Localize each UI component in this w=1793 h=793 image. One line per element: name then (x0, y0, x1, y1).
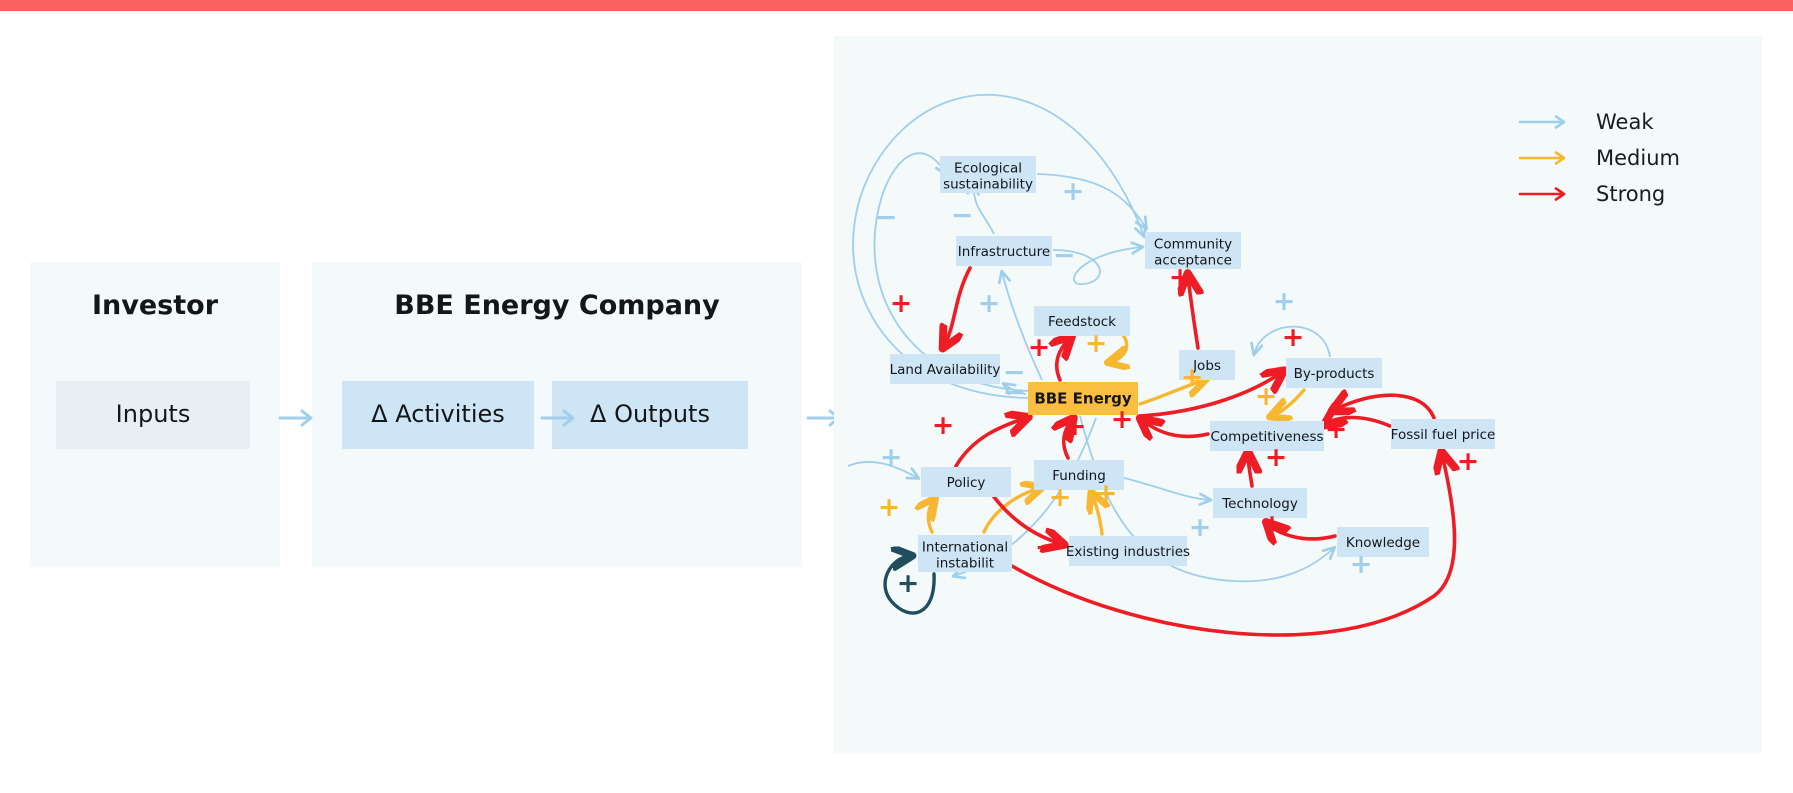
node-label: Fossil fuel price (1391, 427, 1496, 443)
polarity-sign: + (932, 410, 955, 441)
legend-arrow-strong-icon (1518, 185, 1574, 203)
polarity-sign: − (1003, 377, 1026, 408)
legend-item-medium: Medium (1518, 146, 1680, 170)
legend-item-weak: Weak (1518, 110, 1653, 134)
polarity-sign: + (880, 442, 903, 473)
legend-arrow-medium-icon (1518, 149, 1574, 167)
polarity-sign: + (1085, 328, 1108, 359)
link-bbe-to-feedstock (1057, 338, 1070, 380)
polarity-sign: + (897, 568, 920, 599)
polarity-sign: + (1350, 549, 1373, 580)
polarity-sign: + (978, 288, 1001, 319)
link-comp-to-bbe (1142, 420, 1208, 436)
polarity-sign: + (1255, 381, 1278, 412)
link-intl-to-policy (928, 500, 934, 532)
node-label: Infrastructure (958, 244, 1050, 260)
polarity-sign: − (1035, 532, 1058, 563)
top-accent-bar (0, 0, 1793, 11)
diagram-node-comm[interactable]: Communityacceptance (1145, 232, 1241, 269)
link-policy-to-bbe (956, 418, 1026, 466)
link-infra-to-land (944, 268, 970, 346)
polarity-sign: + (890, 288, 913, 319)
link-byproducts-arc (1334, 395, 1434, 418)
polarity-sign: + (1325, 414, 1348, 445)
panel-company-title: BBE Energy Company (312, 290, 802, 321)
panel-investor: Investor Inputs (30, 262, 280, 567)
node-label: Community (1154, 237, 1232, 253)
polarity-sign: + (1273, 286, 1296, 317)
flow-arrow-icon (540, 404, 580, 432)
node-label: Policy (947, 475, 986, 491)
link-fund-to-tech (1124, 478, 1210, 500)
node-label: Technology (1221, 496, 1298, 512)
polarity-sign: + (1111, 404, 1134, 435)
causal-loop-diagram-panel: EcologicalsustainabilityInfrastructureCo… (834, 36, 1762, 753)
diagram-node-infra[interactable]: Infrastructure (956, 236, 1052, 266)
node-label: instabilit (936, 556, 994, 572)
diagram-node-exist[interactable]: Existing industries (1066, 536, 1190, 566)
node-label: acceptance (1154, 253, 1232, 269)
diagram-node-eco[interactable]: Ecologicalsustainability (940, 156, 1036, 193)
polarity-sign: + (1028, 332, 1051, 363)
polarity-sign: + (1457, 446, 1480, 477)
polarity-sign: + (1062, 176, 1085, 207)
node-label: Existing industries (1066, 544, 1190, 560)
polarity-sign: + (1049, 482, 1072, 513)
polarity-sign: − (951, 200, 974, 231)
diagram-node-land[interactable]: Land Availability (890, 354, 1001, 384)
chip-delta-activities[interactable]: Δ Activities (342, 381, 534, 449)
chip-inputs[interactable]: Inputs (56, 381, 250, 449)
diagram-node-intl[interactable]: Internationalinstabilit (918, 535, 1012, 572)
legend-label-medium: Medium (1596, 146, 1680, 170)
polarity-sign: + (1282, 322, 1305, 353)
diagram-node-policy[interactable]: Policy (921, 467, 1011, 497)
node-label: sustainability (943, 177, 1033, 193)
legend-item-strong: Strong (1518, 182, 1665, 206)
flow-arrow-icon (278, 404, 318, 432)
diagram-node-bypr[interactable]: By-products (1286, 358, 1382, 388)
legend-label-strong: Strong (1596, 182, 1665, 206)
polarity-sign: + (1169, 262, 1192, 293)
node-label: Ecological (954, 161, 1022, 177)
polarity-sign: − (875, 202, 898, 233)
legend-label-weak: Weak (1596, 110, 1653, 134)
polarity-sign: + (1095, 478, 1118, 509)
legend-arrow-weak-icon (1518, 113, 1574, 131)
polarity-sign: + (1181, 362, 1204, 393)
link-tech-to-comp (1248, 454, 1252, 486)
panel-investor-title: Investor (30, 290, 280, 321)
node-label: By-products (1294, 366, 1375, 382)
links-strong (944, 268, 1455, 635)
polarity-sign: − (1053, 240, 1076, 271)
node-label: Land Availability (890, 362, 1001, 378)
node-label: International (922, 540, 1008, 556)
chip-delta-outputs[interactable]: Δ Outputs (552, 381, 748, 449)
causal-loop-diagram: EcologicalsustainabilityInfrastructureCo… (834, 36, 1762, 753)
polarity-sign: + (1265, 442, 1288, 473)
polarity-sign: + (1261, 509, 1284, 540)
diagram-node-fossil[interactable]: Fossil fuel price (1391, 419, 1496, 449)
polarity-sign: + (1189, 512, 1212, 543)
polarity-sign: + (1064, 411, 1087, 442)
polarity-sign: + (878, 492, 901, 523)
